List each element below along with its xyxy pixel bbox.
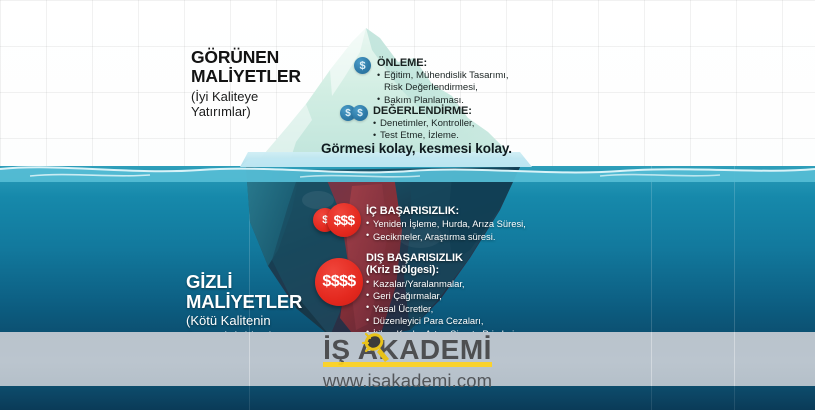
visible-costs-label: GÖRÜNEN MALİYETLER (İyi Kaliteye Yatırım… [191, 48, 341, 120]
visible-costs-heading-line2: MALİYETLER [191, 67, 341, 86]
callout-prevention-bullet: Eğitim, Mühendislik Tasarımı, [377, 70, 509, 82]
visible-costs-sub-line2: Yatırımlar) [191, 104, 341, 120]
callout-external-failure-bullet: Düzenleyici Para Cezaları, [366, 315, 517, 328]
cost-badge-internal: $$$ [327, 203, 361, 237]
cost-badge-external: $$$$ [315, 258, 363, 306]
callout-internal-failure: İÇ BAŞARISIZLIK: Yeniden İşleme, Hurda, … [366, 205, 526, 243]
callout-prevention-heading: ÖNLEME: [377, 57, 509, 69]
callout-external-failure: DIŞ BAŞARISIZLIK (Kriz Bölgesi): Kazalar… [366, 252, 517, 340]
callout-external-failure-bullet: Geri Çağırmalar, [366, 290, 517, 303]
hidden-costs-sub-line1: (Kötü Kalitenin [186, 313, 351, 329]
brand-underline [323, 362, 492, 367]
watermark: İŞ AKADEMİ www.isakademi.com [0, 336, 815, 392]
visible-costs-sub-line1: (İyi Kaliteye [191, 89, 341, 105]
callout-prevention: $ ÖNLEME: Eğitim, Mühendislik Tasarımı, … [354, 57, 509, 107]
callout-external-failure-heading-line2: (Kriz Bölgesi): [366, 264, 517, 276]
above-water-caption: Görmesi kolay, kesmesi kolay. [321, 141, 512, 156]
brand-url: www.isakademi.com [323, 370, 492, 392]
callout-internal-failure-heading: İÇ BAŞARISIZLIK: [366, 205, 526, 217]
dollar-coin-icon: $ [354, 57, 371, 74]
callout-internal-failure-bullet: Yeniden İşleme, Hurda, Arıza Süresi, [366, 218, 526, 231]
callout-prevention-bullet: Risk Değerlendirmesi, [377, 82, 509, 94]
dollar-coin-icon: $ [352, 105, 368, 121]
callout-external-failure-bullet: Kazalar/Yaralanmalar, [366, 278, 517, 291]
callout-internal-failure-bullet: Gecikmeler, Araştırma süresi. [366, 231, 526, 244]
callout-appraisal-bullet: Denetimler, Kontroller, [373, 118, 474, 130]
callout-external-failure-bullet: Yasal Ücretler, [366, 303, 517, 316]
callout-external-failure-heading-line1: DIŞ BAŞARISIZLIK [366, 252, 517, 264]
callout-appraisal-heading: DEĞERLENDİRME: [373, 105, 474, 117]
lightbulb-icon [361, 330, 395, 364]
water-surface-line [0, 160, 815, 182]
iceberg-infographic: GÖRÜNEN MALİYETLER (İyi Kaliteye Yatırım… [0, 0, 815, 410]
visible-costs-heading-line1: GÖRÜNEN [191, 48, 341, 67]
brand-name: İŞ AKADEMİ [323, 336, 492, 364]
callout-appraisal: $ $ DEĞERLENDİRME: Denetimler, Kontrolle… [340, 105, 474, 143]
